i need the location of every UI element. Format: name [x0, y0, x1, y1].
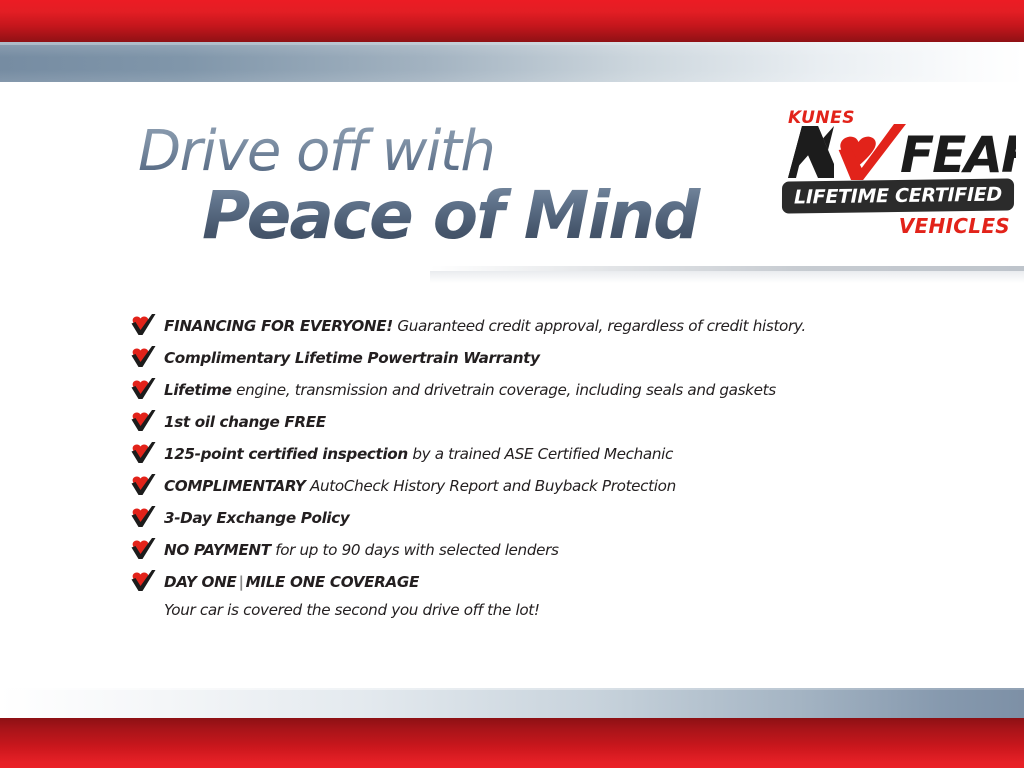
list-item: NO PAYMENT for up to 90 days with select…: [130, 534, 950, 566]
heart-check-bullet-icon: [130, 410, 156, 432]
lifetime-certified-band: LIFETIME CERTIFIED: [782, 178, 1014, 213]
list-item-text: DAY ONE|MILE ONE COVERAGE: [164, 566, 950, 598]
heart-check-bullet-icon: [130, 506, 156, 528]
list-item-strong: COMPLIMENTARY: [164, 477, 306, 495]
top-gray-band: [0, 42, 1024, 82]
header-divider-shadow: [430, 271, 1024, 283]
list-item: 1st oil change FREE: [130, 406, 950, 438]
bottom-red-band: [0, 718, 1024, 768]
list-item: DAY ONE|MILE ONE COVERAGE Your car is co…: [130, 566, 950, 622]
list-item-normal: for up to 90 days with selected lenders: [271, 541, 559, 559]
list-item-normal: AutoCheck History Report and Buyback Pro…: [306, 477, 676, 495]
list-item: 125-point certified inspection by a trai…: [130, 438, 950, 470]
list-item-normal: Guaranteed credit approval, regardless o…: [393, 317, 806, 335]
list-item: Complimentary Lifetime Powertrain Warran…: [130, 342, 950, 374]
list-item-strong: FINANCING FOR EVERYONE!: [164, 317, 393, 335]
list-item-strong: 3-Day Exchange Policy: [164, 509, 349, 527]
list-item-strong: NO PAYMENT: [164, 541, 271, 559]
list-item-text: FINANCING FOR EVERYONE! Guaranteed credi…: [164, 310, 950, 342]
headline: Drive off with Peace of Mind: [138, 122, 758, 252]
list-item-strong: Complimentary Lifetime Powertrain Warran…: [164, 349, 540, 367]
no-fear-wordmark: FEAR: [778, 124, 1016, 180]
list-item: Lifetime engine, transmission and drivet…: [130, 374, 950, 406]
bottom-gray-band: [0, 688, 1024, 718]
heart-check-bullet-icon: [130, 474, 156, 496]
list-item: 3-Day Exchange Policy: [130, 502, 950, 534]
list-item-normal: engine, transmission and drivetrain cove…: [232, 381, 776, 399]
heart-check-bullet-icon: [130, 538, 156, 560]
list-item: FINANCING FOR EVERYONE! Guaranteed credi…: [130, 310, 950, 342]
lifetime-certified-text: LIFETIME CERTIFIED: [782, 178, 1014, 213]
svg-text:FEAR: FEAR: [900, 126, 1016, 180]
headline-line-1: Drive off with: [138, 122, 758, 182]
list-item-strong: Lifetime: [164, 381, 232, 399]
list-item-strong: DAY ONE: [164, 573, 236, 591]
heart-check-bullet-icon: [130, 442, 156, 464]
list-item-text: 125-point certified inspection by a trai…: [164, 438, 950, 470]
list-item-text: Lifetime engine, transmission and drivet…: [164, 374, 950, 406]
list-item-text: COMPLIMENTARY AutoCheck History Report a…: [164, 470, 950, 502]
heart-check-bullet-icon: [130, 314, 156, 336]
list-item-normal: by a trained ASE Certified Mechanic: [408, 445, 673, 463]
logo-vehicles-text: VEHICLES: [899, 214, 1010, 238]
list-item-strong-2: MILE ONE COVERAGE: [246, 573, 419, 591]
headline-line-2: Peace of Mind: [202, 180, 758, 252]
benefits-list: FINANCING FOR EVERYONE! Guaranteed credi…: [130, 310, 950, 622]
heart-check-bullet-icon: [130, 570, 156, 592]
list-item-text: 1st oil change FREE: [164, 406, 950, 438]
heart-check-bullet-icon: [130, 378, 156, 400]
advertisement-page: Drive off with Peace of Mind KUNES FEAR …: [0, 0, 1024, 768]
list-item: COMPLIMENTARY AutoCheck History Report a…: [130, 470, 950, 502]
top-red-band: [0, 0, 1024, 42]
list-item-subline: Your car is covered the second you drive…: [164, 598, 950, 622]
kunes-no-fear-logo: KUNES FEAR LIFETIME CERTIFIED VEHICLES: [778, 108, 1016, 244]
list-item-text: Complimentary Lifetime Powertrain Warran…: [164, 342, 950, 374]
list-item-text: NO PAYMENT for up to 90 days with select…: [164, 534, 950, 566]
heart-check-bullet-icon: [130, 346, 156, 368]
list-item-strong: 125-point certified inspection: [164, 445, 408, 463]
list-item-strong: 1st oil change FREE: [164, 413, 326, 431]
list-item-separator: |: [236, 573, 245, 591]
heart-check-icon: [837, 124, 906, 180]
list-item-text: 3-Day Exchange Policy: [164, 502, 950, 534]
